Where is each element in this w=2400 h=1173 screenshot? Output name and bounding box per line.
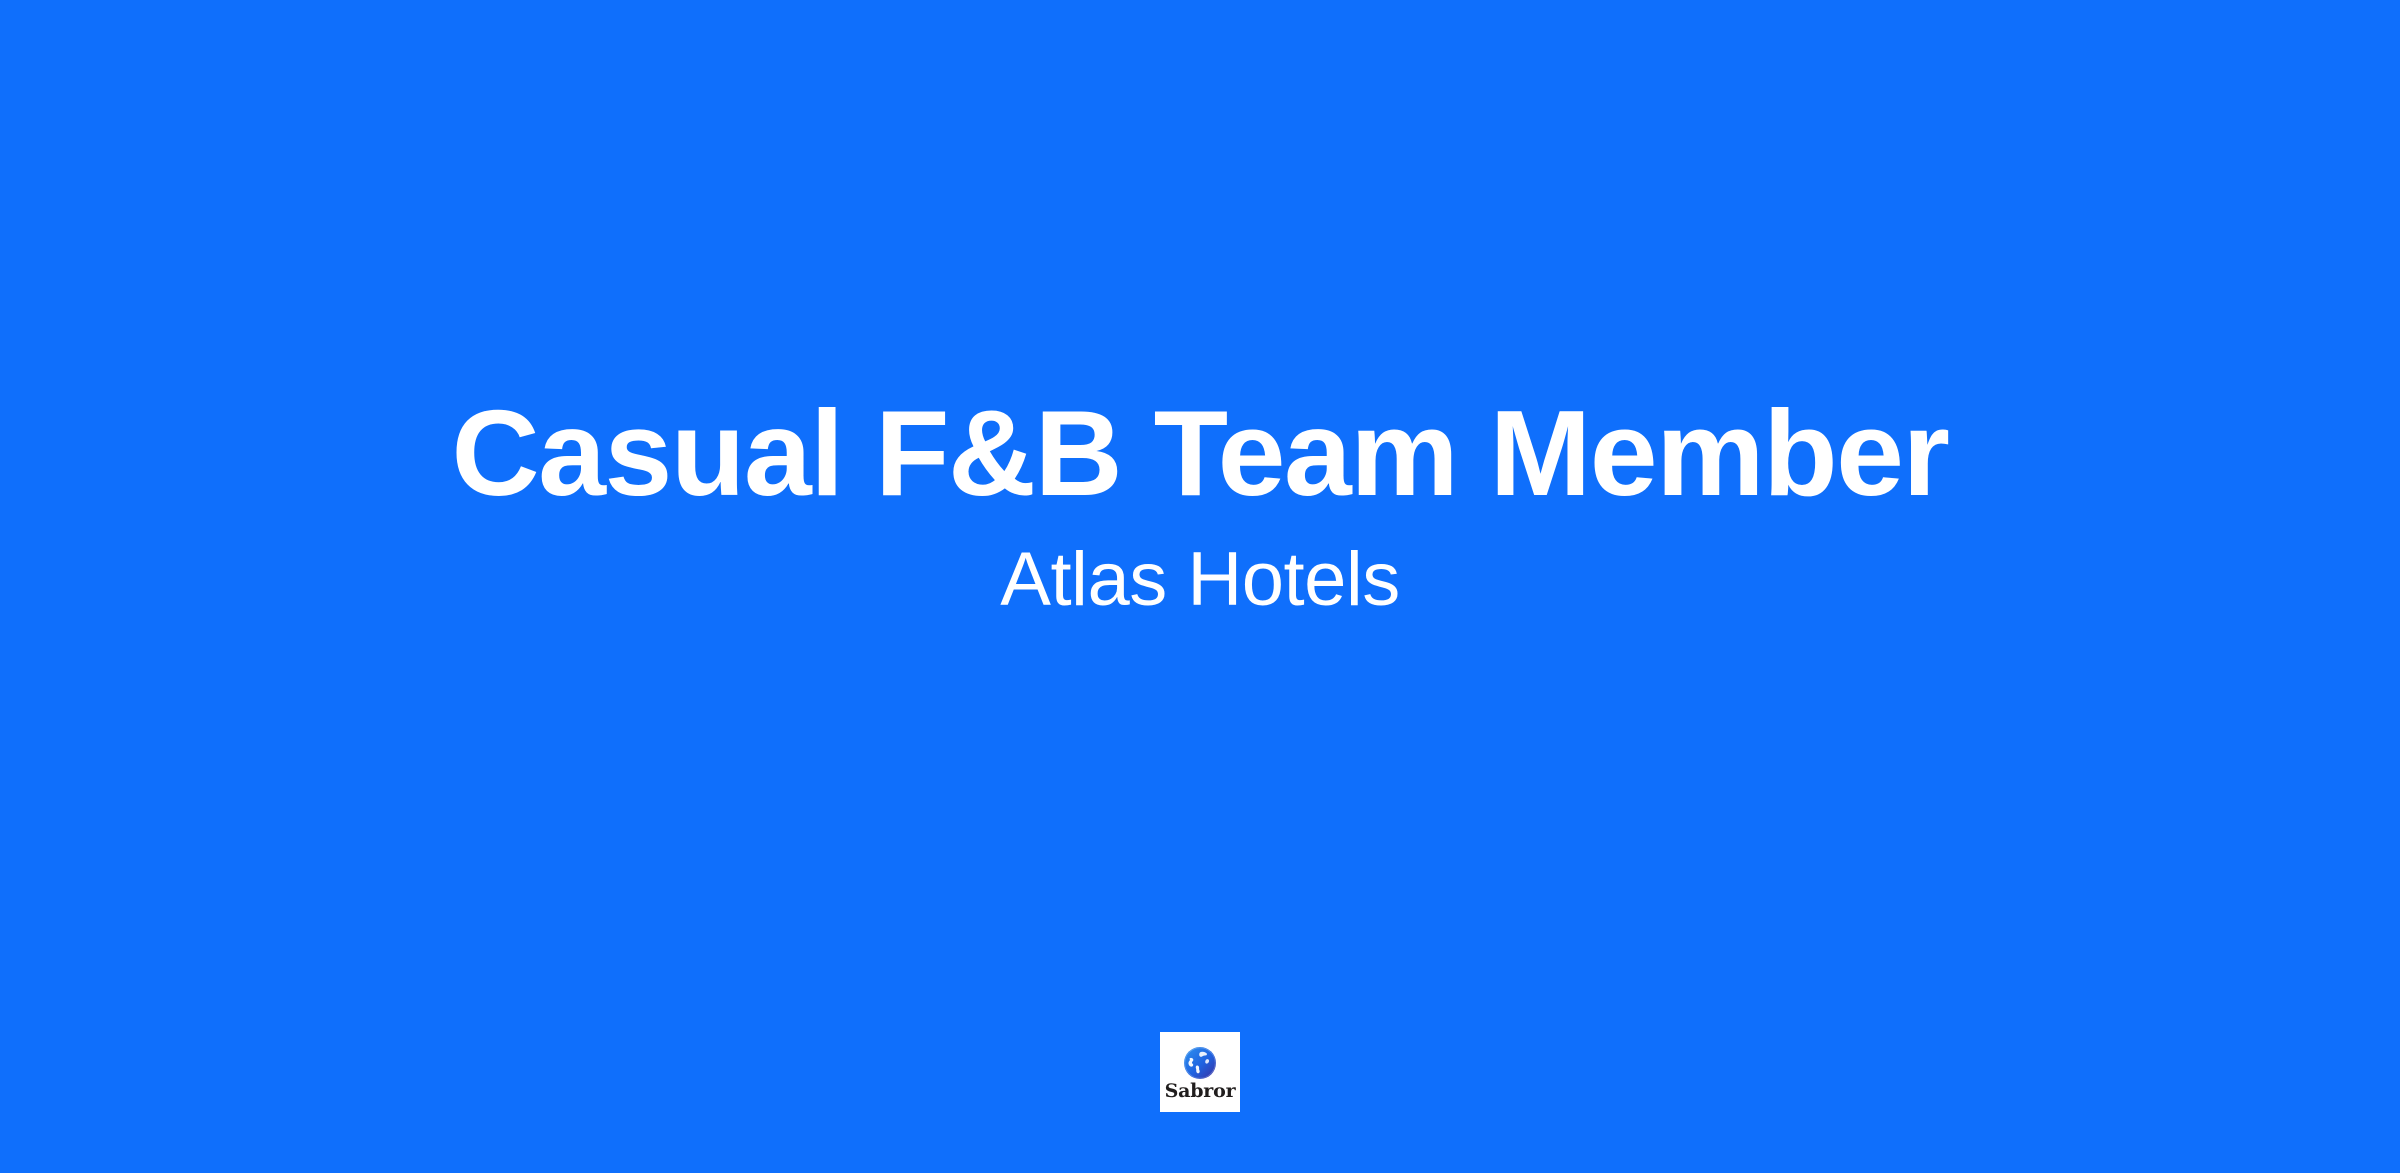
- brand-badge[interactable]: Sabror: [1160, 1032, 1240, 1112]
- job-posting-hero: Casual F&B Team Member Atlas Hotels Sabr…: [0, 0, 2400, 1173]
- brand-wordmark: Sabror: [1165, 1082, 1236, 1101]
- hero-text-block: Casual F&B Team Member Atlas Hotels: [0, 392, 2400, 618]
- company-name: Atlas Hotels: [0, 514, 2400, 618]
- globe-icon: [1182, 1045, 1218, 1081]
- page-title: Casual F&B Team Member: [0, 392, 2400, 514]
